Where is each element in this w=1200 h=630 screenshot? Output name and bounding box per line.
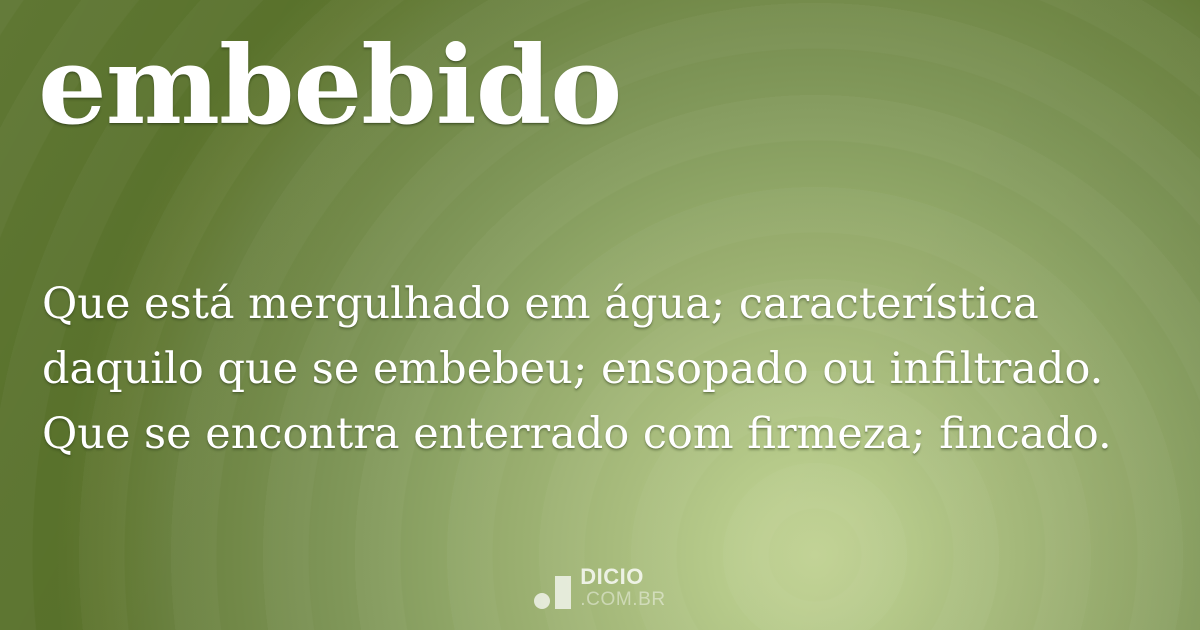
logo-name: DICIO xyxy=(580,566,665,588)
definition-line: daquilo que se embebeu; ensopado ou infi… xyxy=(42,337,1162,402)
site-logo: DICIO .COM.BR xyxy=(0,566,1200,612)
logo-wordmark: DICIO .COM.BR xyxy=(580,566,665,612)
rectangle-mark-icon xyxy=(555,576,571,609)
card-content: embebido Que está mergulhado em água; ca… xyxy=(0,0,1200,630)
logo-domain: .COM.BR xyxy=(580,589,665,610)
definition-card: embebido Que está mergulhado em água; ca… xyxy=(0,0,1200,630)
definition-line: Que está mergulhado em água; característ… xyxy=(42,272,1162,337)
definition-text: Que está mergulhado em água; característ… xyxy=(42,272,1162,467)
page-title: embebido xyxy=(38,26,621,147)
logo-mark xyxy=(534,572,571,612)
circle-mark-icon xyxy=(534,593,550,609)
definition-line: Que se encontra enterrado com firmeza; f… xyxy=(42,402,1162,467)
